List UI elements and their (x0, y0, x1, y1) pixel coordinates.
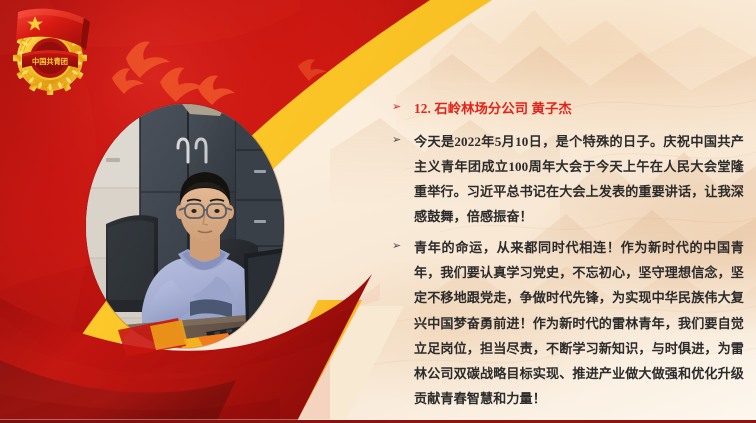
content-text-column: ➢ 12. 石岭林场分公司 黄子杰 ➢ 今天是2022年5月10日，是个特殊的日… (392, 96, 744, 415)
slide-canvas: 中国共青团 (0, 0, 756, 423)
arrow-bullet-icon: ➢ (392, 96, 414, 117)
paragraph-block-1: ➢ 今天是2022年5月10日，是个特殊的日子。庆祝中国共产主义青年团成立100… (392, 129, 744, 230)
communist-youth-league-emblem: 中国共青团 (4, 2, 96, 98)
title-block: ➢ 12. 石岭林场分公司 黄子杰 (392, 96, 744, 122)
svg-text:中国共青团: 中国共青团 (32, 57, 68, 66)
paragraph-block-2: ➢ 青年的命运，从来都同时代相连！作为新时代的中国青年，我们要认真学习党史，不忘… (392, 235, 744, 412)
paragraph-text-2: 青年的命运，从来都同时代相连！作为新时代的中国青年，我们要认真学习党史，不忘初心… (414, 235, 744, 412)
paragraph-text-1: 今天是2022年5月10日，是个特殊的日子。庆祝中国共产主义青年团成立100周年… (414, 129, 744, 230)
arrow-bullet-icon: ➢ (392, 129, 414, 150)
avatar (86, 104, 284, 348)
arrow-bullet-icon: ➢ (392, 235, 414, 256)
emblem-banner: 中国共青团 (22, 50, 78, 68)
page-title: 12. 石岭林场分公司 黄子杰 (414, 96, 744, 122)
